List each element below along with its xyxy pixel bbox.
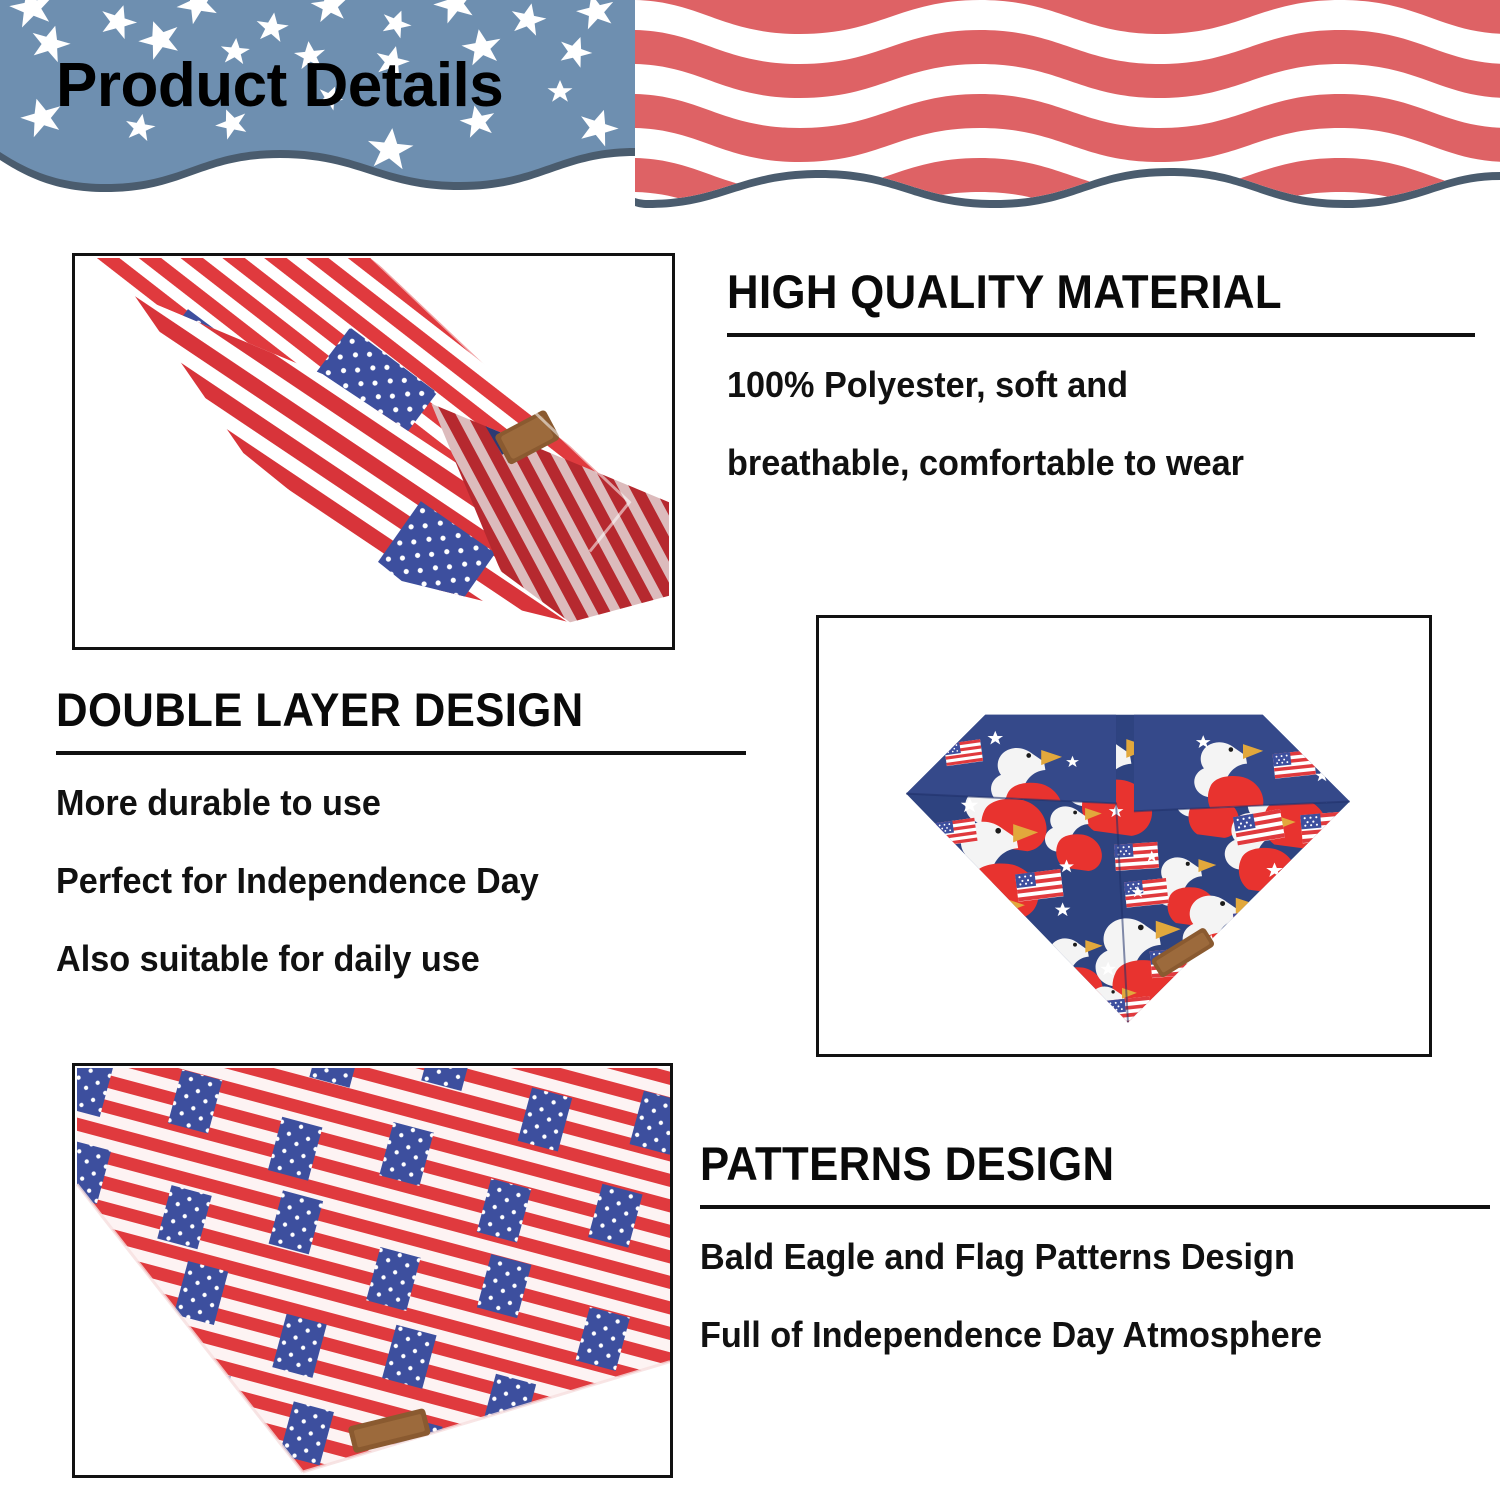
folded-flag-bandana-image: [75, 256, 672, 647]
feature-line: Bald Eagle and Flag Patterns Design: [700, 1239, 1451, 1275]
feature-block-high-quality-material: HIGH QUALITY MATERIAL 100% Polyester, so…: [727, 268, 1475, 481]
feature-line: 100% Polyester, soft and: [727, 367, 1438, 403]
feature-lines: More durable to use Perfect for Independ…: [56, 785, 746, 977]
feature-line: breathable, comfortable to wear: [727, 445, 1438, 481]
flag-banner-header: Product Details: [0, 0, 1500, 215]
product-photo-eagle-bandana: [816, 615, 1432, 1057]
heading-divider: [56, 751, 746, 755]
product-photo-flat-flag-bandana: [72, 1063, 673, 1478]
feature-line: Also suitable for daily use: [56, 941, 712, 977]
heading-divider: [700, 1205, 1490, 1209]
feature-block-patterns-design: PATTERNS DESIGN Bald Eagle and Flag Patt…: [700, 1140, 1490, 1353]
feature-heading: DOUBLE LAYER DESIGN: [56, 686, 698, 733]
heading-divider: [727, 333, 1475, 337]
product-photo-folded-flag-bandana: [72, 253, 675, 650]
feature-heading: PATTERNS DESIGN: [700, 1140, 1435, 1187]
feature-block-double-layer-design: DOUBLE LAYER DESIGN More durable to use …: [56, 686, 746, 977]
flat-flag-bandana-image: [75, 1066, 670, 1475]
feature-line: More durable to use: [56, 785, 712, 821]
feature-line: Perfect for Independence Day: [56, 863, 712, 899]
feature-lines: 100% Polyester, soft and breathable, com…: [727, 367, 1475, 481]
page-title: Product Details: [56, 50, 503, 121]
product-details-page: Product Details: [0, 0, 1500, 1487]
feature-heading: HIGH QUALITY MATERIAL: [727, 268, 1423, 315]
feature-line: Full of Independence Day Atmosphere: [700, 1317, 1451, 1353]
eagle-bandana-image: [819, 618, 1429, 1054]
feature-lines: Bald Eagle and Flag Patterns Design Full…: [700, 1239, 1490, 1353]
